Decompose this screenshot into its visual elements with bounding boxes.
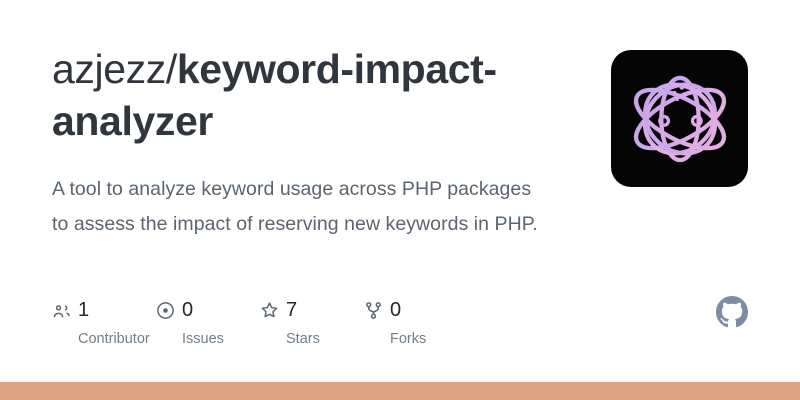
repo-separator: / xyxy=(166,46,177,92)
accent-stripe xyxy=(0,382,800,400)
repo-forked-icon xyxy=(364,301,383,320)
repo-description: A tool to analyze keyword usage across P… xyxy=(52,172,552,241)
stat-contributors: 1 Contributor xyxy=(52,298,156,347)
stat-issues-value: 0 xyxy=(182,300,193,320)
repository-social-card: azjezz/keyword-impact-analyzer xyxy=(0,0,800,400)
repo-stats: 1 Contributor 0 Issues xyxy=(52,298,760,347)
stat-issues-value-row: 0 xyxy=(156,298,193,322)
people-icon xyxy=(52,301,71,320)
avatar xyxy=(611,50,748,187)
stat-stars: 7 Stars xyxy=(260,298,364,347)
stat-contributors-value-row: 1 xyxy=(52,298,89,322)
card-header: azjezz/keyword-impact-analyzer xyxy=(52,44,748,187)
stat-stars-value-row: 7 xyxy=(260,298,297,322)
page-title: azjezz/keyword-impact-analyzer xyxy=(52,44,557,147)
stat-stars-label: Stars xyxy=(286,331,320,347)
issue-opened-icon xyxy=(156,301,175,320)
repo-owner: azjezz xyxy=(52,46,166,92)
stat-stars-value: 7 xyxy=(286,300,297,320)
star-icon xyxy=(260,301,279,320)
stat-forks-value-row: 0 xyxy=(364,298,401,322)
stat-contributors-label: Contributor xyxy=(78,331,150,347)
stat-forks-label: Forks xyxy=(390,331,426,347)
stat-issues: 0 Issues xyxy=(156,298,260,347)
github-mark-icon xyxy=(716,296,748,328)
stat-forks: 0 Forks xyxy=(364,298,468,347)
stat-issues-label: Issues xyxy=(182,331,224,347)
stat-forks-value: 0 xyxy=(390,300,401,320)
stat-contributors-value: 1 xyxy=(78,300,89,320)
